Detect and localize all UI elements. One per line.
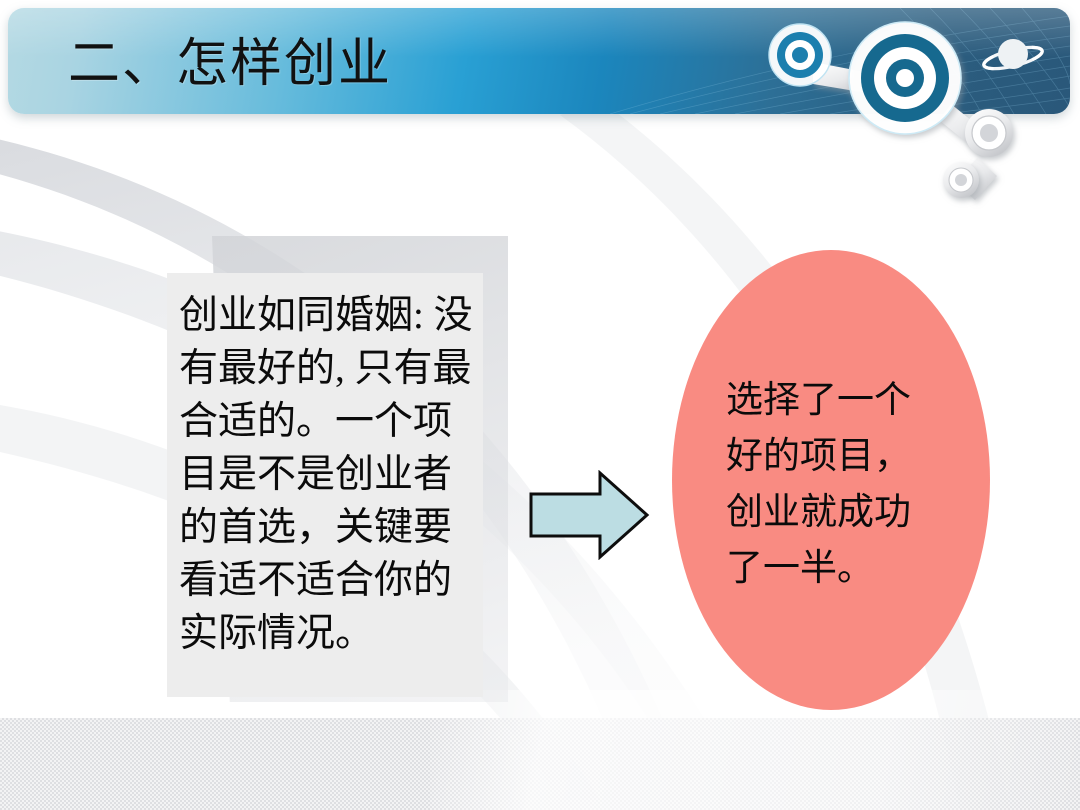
text-card-body: 创业如同婚姻: 没有最好的, 只有最合适的。一个项目是不是创业者的首选，关键要看… (179, 289, 473, 660)
right-arrow-shape (528, 470, 650, 560)
page-title: 二、怎样创业 (68, 34, 392, 96)
concentric-circle-small (965, 109, 1013, 157)
footer-texture-band (0, 718, 1080, 810)
oval-text: 选择了一个好的项目，创业就成功了一半。 (726, 373, 936, 597)
concentric-circle-tiny (943, 162, 979, 198)
highlight-oval: 选择了一个好的项目，创业就成功了一半。 (672, 250, 990, 710)
presentation-slide: 二、怎样创业 (0, 0, 1080, 810)
text-card: 创业如同婚姻: 没有最好的, 只有最合适的。一个项目是不是创业者的首选，关键要看… (167, 273, 483, 697)
slide-header-bar: 二、怎样创业 (8, 8, 1070, 114)
